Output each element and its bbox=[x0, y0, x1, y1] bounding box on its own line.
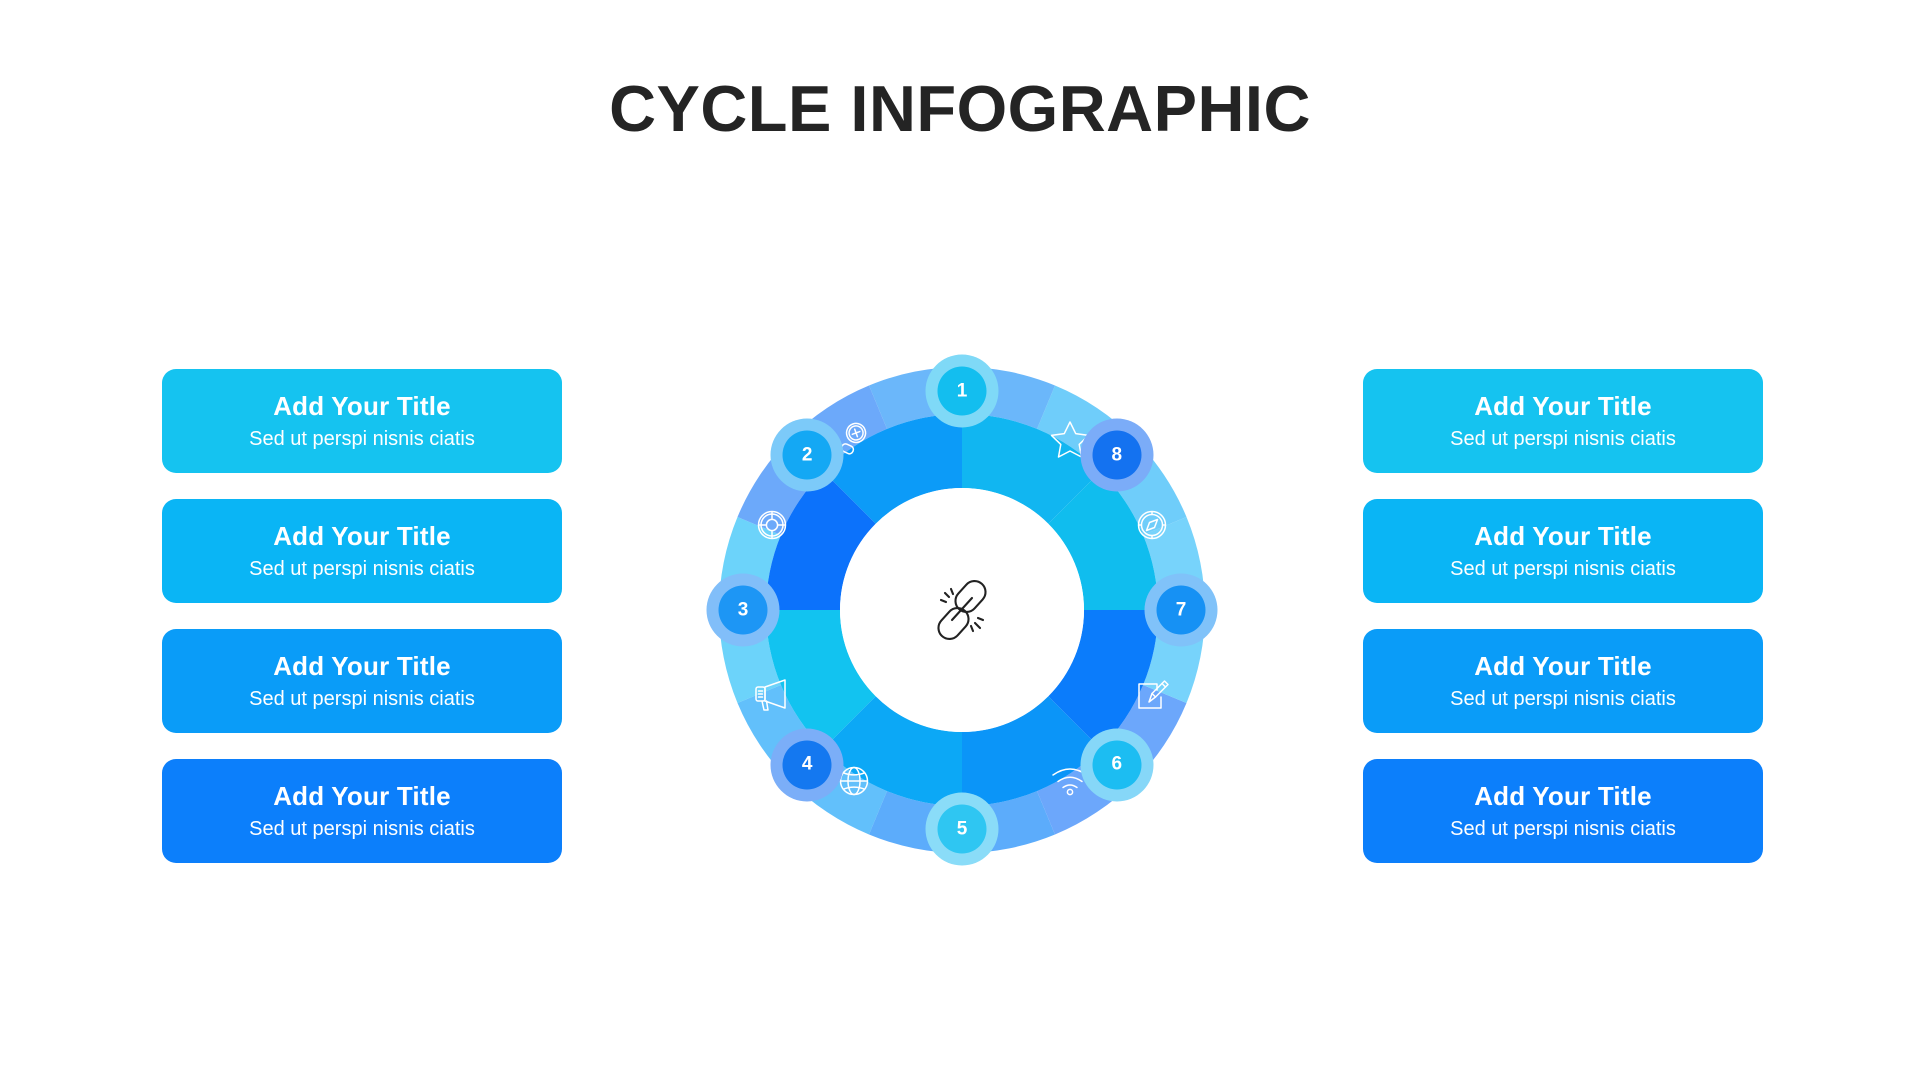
card-subtitle: Sed ut perspi nisnis ciatis bbox=[249, 428, 475, 450]
step-badge-7[interactable]: 7 bbox=[1157, 586, 1206, 635]
card-title: Add Your Title bbox=[1474, 782, 1652, 811]
step-badge-5[interactable]: 5 bbox=[938, 805, 987, 854]
step-badge-8[interactable]: 8 bbox=[1092, 431, 1141, 480]
card-title: Add Your Title bbox=[273, 652, 451, 681]
step-badge-4[interactable]: 4 bbox=[783, 740, 832, 789]
card-subtitle: Sed ut perspi nisnis ciatis bbox=[1450, 818, 1676, 840]
step-badge-6[interactable]: 6 bbox=[1092, 740, 1141, 789]
left-card-2[interactable]: Add Your Title Sed ut perspi nisnis ciat… bbox=[162, 499, 562, 603]
right-card-column: Add Your Title Sed ut perspi nisnis ciat… bbox=[1363, 369, 1763, 863]
card-subtitle: Sed ut perspi nisnis ciatis bbox=[1450, 558, 1676, 580]
right-card-4[interactable]: Add Your Title Sed ut perspi nisnis ciat… bbox=[1363, 759, 1763, 863]
left-card-4[interactable]: Add Your Title Sed ut perspi nisnis ciat… bbox=[162, 759, 562, 863]
card-title: Add Your Title bbox=[1474, 392, 1652, 421]
card-title: Add Your Title bbox=[1474, 522, 1652, 551]
card-subtitle: Sed ut perspi nisnis ciatis bbox=[249, 818, 475, 840]
right-card-2[interactable]: Add Your Title Sed ut perspi nisnis ciat… bbox=[1363, 499, 1763, 603]
card-title: Add Your Title bbox=[273, 522, 451, 551]
left-card-1[interactable]: Add Your Title Sed ut perspi nisnis ciat… bbox=[162, 369, 562, 473]
right-card-3[interactable]: Add Your Title Sed ut perspi nisnis ciat… bbox=[1363, 629, 1763, 733]
card-subtitle: Sed ut perspi nisnis ciatis bbox=[1450, 688, 1676, 710]
step-badge-1[interactable]: 1 bbox=[938, 367, 987, 416]
left-card-3[interactable]: Add Your Title Sed ut perspi nisnis ciat… bbox=[162, 629, 562, 733]
broken-link-icon bbox=[925, 573, 999, 647]
step-badge-3[interactable]: 3 bbox=[719, 586, 768, 635]
card-subtitle: Sed ut perspi nisnis ciatis bbox=[249, 688, 475, 710]
card-subtitle: Sed ut perspi nisnis ciatis bbox=[249, 558, 475, 580]
card-title: Add Your Title bbox=[273, 782, 451, 811]
step-badge-2[interactable]: 2 bbox=[783, 431, 832, 480]
left-card-column: Add Your Title Sed ut perspi nisnis ciat… bbox=[162, 369, 562, 863]
cycle-wheel: 12345678 bbox=[658, 306, 1266, 914]
card-subtitle: Sed ut perspi nisnis ciatis bbox=[1450, 428, 1676, 450]
page-title: CYCLE INFOGRAPHIC bbox=[0, 76, 1920, 141]
card-title: Add Your Title bbox=[273, 392, 451, 421]
right-card-1[interactable]: Add Your Title Sed ut perspi nisnis ciat… bbox=[1363, 369, 1763, 473]
card-title: Add Your Title bbox=[1474, 652, 1652, 681]
